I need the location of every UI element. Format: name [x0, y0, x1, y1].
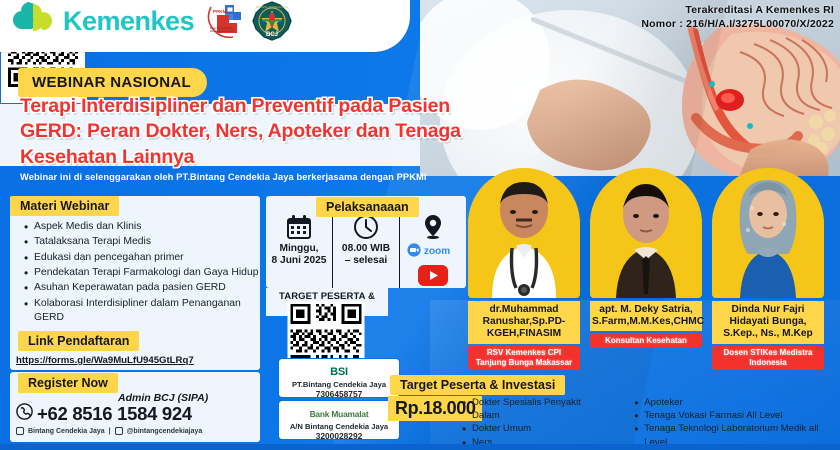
accreditation-line-2: Nomor : 216/H/A.I/3275L00070/X/2022 [641, 17, 834, 31]
youtube-icon [418, 265, 448, 291]
event-date-line-1: Minggu, [272, 243, 327, 255]
pelaksanaan-date-cell: Minggu, 8 Juni 2025 [266, 210, 332, 288]
list-item: Apoteker [634, 396, 840, 409]
social-row: Bintang Cendekia Jaya | @bintangcendekia… [16, 427, 202, 435]
bsi-holder: PT.Bintang Cendekia Jaya [279, 380, 399, 389]
speaker-name: apt. M. Deky Satria, S.Farm,M.M.Kes,CHMC [590, 301, 702, 331]
target-peserta-investasi-heading: Target Peserta & Investasi [390, 375, 565, 395]
kemenkes-logo [12, 2, 54, 40]
list-item: Dokter Spesialis Penyakit Dalam [462, 396, 608, 422]
zoom-logo: zoom [407, 243, 459, 262]
list-item: Aspek Medis dan Klinis [24, 220, 260, 234]
facebook-icon[interactable] [16, 427, 24, 435]
bcj-logo: BCJ BINTANG CENDEKIA JAYA [252, 1, 292, 41]
svg-text:BINTANG CENDEKIA JAYA: BINTANG CENDEKIA JAYA [256, 5, 288, 9]
muamalat-logo: Bank Muamalat [279, 404, 399, 422]
clock-icon [353, 214, 379, 240]
speaker-card: Dinda Nur Fajri Hidayati Bunga, S.Kep., … [712, 168, 824, 370]
svg-text:Masyarakat Indonesia: Masyarakat Indonesia [210, 30, 234, 33]
location-pin-icon [420, 214, 446, 240]
list-item: Tatalaksana Terapi Medis [24, 235, 260, 249]
registration-link[interactable]: https://forms.gle/Wa9MuLfU945GtLRq7 [16, 355, 194, 366]
muamalat-holder: A/N Bintang Cendekia Jaya [279, 422, 399, 431]
accreditation-text: Terakreditasi A Kemenkes RI Nomor : 216/… [641, 3, 834, 31]
event-date: Minggu, 8 Juni 2025 [272, 243, 327, 267]
target-audience-column-2: Apoteker Tenaga Vokasi Farmasi All Level… [634, 396, 840, 450]
kemenkes-wordmark: Kemenkes [63, 6, 194, 37]
list-item: Pendekatan Terapi Farmakologi dan Gaya H… [24, 266, 260, 280]
social-separator: | [109, 428, 111, 435]
bank-account-muamalat: Bank Muamalat A/N Bintang Cendekia Jaya … [278, 400, 400, 440]
calendar-icon [286, 214, 312, 240]
webinar-badge: WEBINAR NASIONAL [18, 68, 207, 97]
list-item: Asuhan Keperawatan pada pasien GERD [24, 281, 260, 295]
target-audience-column-1: Dokter Spesialis Penyakit Dalam Dokter U… [462, 396, 608, 450]
speaker-card: apt. M. Deky Satria, S.Farm,M.M.Kes,CHMC… [590, 168, 702, 348]
bsi-brand: BSI [330, 366, 348, 378]
list-item: Dokter Umum [462, 422, 608, 435]
phone-row[interactable]: +62 8516 1584 924 [16, 403, 192, 425]
speaker-card: dr.Muhammad Ranushar,Sp.PD-KGEH,FINASIM … [468, 168, 580, 370]
svg-text:zoom: zoom [424, 246, 450, 257]
materi-webinar-panel: Materi Webinar Aspek Medis dan Klinis Ta… [10, 196, 260, 336]
muamalat-brand: Bank Muamalat [310, 409, 369, 419]
webinar-poster: Terakreditasi A Kemenkes RI Nomor : 216/… [0, 0, 840, 450]
svg-text:PPKMI: PPKMI [213, 9, 228, 14]
pelaksanaan-platform-cell: zoom [399, 210, 466, 288]
link-pendaftaran-heading: Link Pendaftaran [18, 331, 139, 351]
target-audience-columns: Dokter Spesialis Penyakit Dalam Dokter U… [462, 396, 840, 450]
instagram-handle: @bintangcendekiajaya [127, 428, 203, 435]
event-time-line-2: – selesai [342, 255, 390, 267]
event-time: 08.00 WIB – selesai [342, 243, 390, 267]
materi-webinar-heading: Materi Webinar [10, 196, 119, 216]
register-now-heading: Register Now [18, 373, 118, 393]
list-item: Tenaga Vokasi Farmasi All Level [634, 409, 840, 422]
speaker-affiliation: Konsultan Kesehatan [590, 333, 702, 348]
svg-text:BCJ: BCJ [266, 32, 278, 38]
instagram-icon[interactable] [115, 427, 123, 435]
bank-account-bsi: BSI PT.Bintang Cendekia Jaya 7306458757 [278, 358, 400, 398]
bsi-logo: BSI [279, 362, 399, 380]
list-item: Edukasi dan pencegahan primer [24, 251, 260, 265]
accreditation-line-1: Terakreditasi A Kemenkes RI [641, 3, 834, 17]
bottom-strip [0, 444, 840, 450]
pelaksanaan-heading: Pelaksanaaan [316, 197, 419, 217]
phone-number: +62 8516 1584 924 [37, 403, 192, 425]
ppkmi-logo: PPKMI Ikatan Ahli Kesehatan Masyarakat I… [203, 1, 243, 41]
speaker-affiliation: RSV Kemenkes CPI Tanjung Bunga Makassar [468, 346, 580, 370]
event-time-line-1: 08.00 WIB [342, 243, 390, 255]
speaker-photo-nurse-female [712, 168, 824, 298]
page-title: Terapi Interdisipliner dan Preventif pad… [20, 94, 470, 170]
bsi-account-number: 7306458757 [279, 389, 399, 399]
phone-icon [16, 403, 33, 425]
pelaksanaan-time-cell: 08.00 WIB – selesai [332, 210, 399, 288]
list-item: Kolaborasi Interdisipliner dalam Penanga… [24, 297, 260, 326]
muamalat-account-number: 3200028292 [279, 431, 399, 441]
header-logo-bar: Kemenkes PPKMI Ikatan Ahli Kesehatan Mas… [0, 0, 410, 52]
event-date-line-2: 8 Juni 2025 [272, 255, 327, 267]
speaker-name: Dinda Nur Fajri Hidayati Bunga, S.Kep., … [712, 301, 824, 344]
speaker-name: dr.Muhammad Ranushar,Sp.PD-KGEH,FINASIM [468, 301, 580, 344]
facebook-handle: Bintang Cendekia Jaya [28, 428, 105, 435]
speaker-photo-pharmacist-male [590, 168, 702, 298]
speaker-photo-doctor-male [468, 168, 580, 298]
organizer-note: Webinar ini di selenggarakan oleh PT.Bin… [20, 172, 490, 182]
speaker-affiliation: Dosen STIKes Medistra Indonesia [712, 346, 824, 370]
materi-list: Aspek Medis dan Klinis Tatalaksana Terap… [24, 220, 260, 326]
